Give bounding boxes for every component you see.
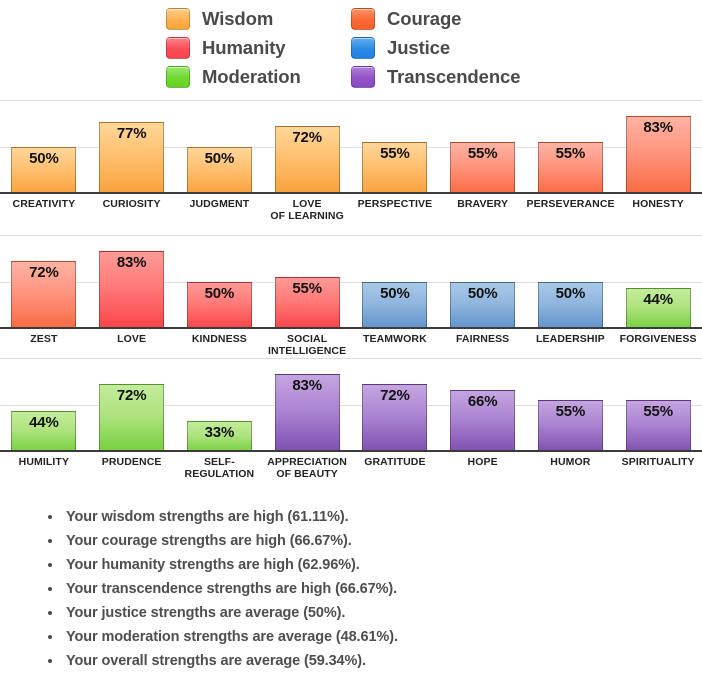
bar-social-intelligence[interactable]: 55% xyxy=(275,277,340,329)
x-axis-label: HUMOR xyxy=(527,452,615,492)
bar-value-label: 72% xyxy=(117,388,146,403)
bar-slot: 44% xyxy=(0,358,88,452)
bar-series-row-3: 44%72%33%83%72%66%55%55% xyxy=(0,358,702,452)
bar-prudence[interactable]: 72% xyxy=(99,384,164,452)
legend-label: Humanity xyxy=(202,37,286,59)
x-axis-label-line: BRAVERY xyxy=(439,198,527,210)
bar-slot: 55% xyxy=(351,100,439,194)
bar-value-label: 50% xyxy=(205,151,234,166)
bar-value-label: 50% xyxy=(29,151,58,166)
x-axis-label-line: FAIRNESS xyxy=(439,333,527,345)
legend-swatch-transcendence-icon xyxy=(351,66,375,88)
bar-curiosity[interactable]: 77% xyxy=(99,122,164,194)
bar-value-label: 55% xyxy=(292,281,321,296)
x-axis-label: GRATITUDE xyxy=(351,452,439,492)
bar-value-label: 83% xyxy=(292,378,321,393)
bar-slot: 55% xyxy=(527,358,615,452)
x-axis-label-line: SOCIAL xyxy=(263,333,351,345)
bar-slot: 83% xyxy=(614,100,702,194)
bar-leadership[interactable]: 50% xyxy=(538,282,603,329)
legend-item-transcendence: Transcendence xyxy=(351,62,536,91)
x-axis-label: PERSEVERANCE xyxy=(527,194,615,234)
bar-slot: 55% xyxy=(614,358,702,452)
x-axis-label-line: CURIOSITY xyxy=(88,198,176,210)
legend-item-courage: Courage xyxy=(351,4,536,33)
x-axis-label-line: CREATIVITY xyxy=(0,198,88,210)
legend-swatch-courage-icon xyxy=(351,8,375,30)
chart-row-2: 72%83%50%55%50%50%50%44%ZESTLOVEKINDNESS… xyxy=(0,235,702,369)
x-axis-label: SPIRITUALITY xyxy=(614,452,702,492)
x-axis-label-line: HOPE xyxy=(439,456,527,468)
x-axis-label-line: OF LEARNING xyxy=(263,210,351,222)
x-axis-label: HONESTY xyxy=(614,194,702,234)
x-axis-labels-row-3: HUMILITYPRUDENCESELF-REGULATIONAPPRECIAT… xyxy=(0,452,702,492)
x-axis-label-line: KINDNESS xyxy=(176,333,264,345)
x-axis-label: CURIOSITY xyxy=(88,194,176,234)
x-axis-labels-row-1: CREATIVITYCURIOSITYJUDGMENTLOVEOF LEARNI… xyxy=(0,194,702,234)
summary-section: Your wisdom strengths are high (61.11%).… xyxy=(0,505,702,673)
x-axis-label-line: HUMILITY xyxy=(0,456,88,468)
bar-value-label: 50% xyxy=(380,286,409,301)
bar-appreciation-of-beauty[interactable]: 83% xyxy=(275,374,340,452)
bar-value-label: 55% xyxy=(643,404,672,419)
legend-item-moderation: Moderation xyxy=(166,62,351,91)
summary-item: Your justice strengths are average (50%)… xyxy=(48,601,702,625)
bar-slot: 50% xyxy=(351,235,439,329)
bar-value-label: 66% xyxy=(468,394,497,409)
x-axis-label: APPRECIATIONOF BEAUTY xyxy=(263,452,351,492)
bar-fairness[interactable]: 50% xyxy=(450,282,515,329)
bar-creativity[interactable]: 50% xyxy=(11,147,76,194)
bar-value-label: 55% xyxy=(556,146,585,161)
x-axis-label-line: PERSEVERANCE xyxy=(527,198,615,210)
summary-item: Your courage strengths are high (66.67%)… xyxy=(48,529,702,553)
x-axis-label-line: OF BEAUTY xyxy=(263,468,351,480)
plot-area-row-2: 72%83%50%55%50%50%50%44% xyxy=(0,235,702,329)
summary-item: Your moderation strengths are average (4… xyxy=(48,625,702,649)
bar-slot: 55% xyxy=(439,100,527,194)
bar-humility[interactable]: 44% xyxy=(11,411,76,452)
bar-teamwork[interactable]: 50% xyxy=(362,282,427,329)
summary-item: Your humanity strengths are high (62.96%… xyxy=(48,553,702,577)
bar-series-row-1: 50%77%50%72%55%55%55%83% xyxy=(0,100,702,194)
bar-humor[interactable]: 55% xyxy=(538,400,603,452)
x-axis-label: SELF-REGULATION xyxy=(176,452,264,492)
bar-love-of-learning[interactable]: 72% xyxy=(275,126,340,194)
legend-item-humanity: Humanity xyxy=(166,33,351,62)
legend-label: Moderation xyxy=(202,66,301,88)
x-axis-label-line: REGULATION xyxy=(176,468,264,480)
bar-slot: 50% xyxy=(439,235,527,329)
bar-slot: 77% xyxy=(88,100,176,194)
x-axis-label: LOVEOF LEARNING xyxy=(263,194,351,234)
bar-judgment[interactable]: 50% xyxy=(187,147,252,194)
summary-item: Your overall strengths are average (59.3… xyxy=(48,649,702,673)
legend-swatch-wisdom-icon xyxy=(166,8,190,30)
bar-value-label: 72% xyxy=(380,388,409,403)
bar-love[interactable]: 83% xyxy=(99,251,164,329)
legend-swatch-humanity-icon xyxy=(166,37,190,59)
plot-area-row-3: 44%72%33%83%72%66%55%55% xyxy=(0,358,702,452)
bar-slot: 83% xyxy=(263,358,351,452)
bar-value-label: 55% xyxy=(556,404,585,419)
bar-hope[interactable]: 66% xyxy=(450,390,515,452)
x-axis-label: CREATIVITY xyxy=(0,194,88,234)
bar-slot: 50% xyxy=(0,100,88,194)
legend-item-wisdom: Wisdom xyxy=(166,4,351,33)
x-axis-label: HOPE xyxy=(439,452,527,492)
bar-zest[interactable]: 72% xyxy=(11,261,76,329)
legend-label: Wisdom xyxy=(202,8,273,30)
bar-value-label: 50% xyxy=(205,286,234,301)
bar-value-label: 55% xyxy=(380,146,409,161)
bar-slot: 72% xyxy=(351,358,439,452)
bar-perseverance[interactable]: 55% xyxy=(538,142,603,194)
bar-value-label: 44% xyxy=(643,292,672,307)
x-axis-label-line: LOVE xyxy=(88,333,176,345)
x-axis-label-line: FORGIVENESS xyxy=(614,333,702,345)
chart-legend: WisdomCourageHumanityJusticeModerationTr… xyxy=(0,0,702,94)
x-axis-label: PERSPECTIVE xyxy=(351,194,439,234)
summary-item: Your transcendence strengths are high (6… xyxy=(48,577,702,601)
x-axis-label: PRUDENCE xyxy=(88,452,176,492)
bar-value-label: 44% xyxy=(29,415,58,430)
bar-slot: 72% xyxy=(88,358,176,452)
x-axis-label-line: TEAMWORK xyxy=(351,333,439,345)
bar-value-label: 50% xyxy=(468,286,497,301)
legend-label: Transcendence xyxy=(387,66,520,88)
x-axis-label-line: PERSPECTIVE xyxy=(351,198,439,210)
legend-swatch-moderation-icon xyxy=(166,66,190,88)
bar-slot: 50% xyxy=(176,100,264,194)
bar-value-label: 83% xyxy=(643,120,672,135)
x-axis-label-line: GRATITUDE xyxy=(351,456,439,468)
bar-forgiveness[interactable]: 44% xyxy=(626,288,691,329)
legend-swatch-justice-icon xyxy=(351,37,375,59)
chart-row-3: 44%72%33%83%72%66%55%55%HUMILITYPRUDENCE… xyxy=(0,358,702,492)
bar-value-label: 72% xyxy=(292,130,321,145)
bar-slot: 50% xyxy=(176,235,264,329)
x-axis-label-line: ZEST xyxy=(0,333,88,345)
bar-self-regulation[interactable]: 33% xyxy=(187,421,252,452)
bar-value-label: 33% xyxy=(205,425,234,440)
plot-area-row-1: 50%77%50%72%55%55%55%83% xyxy=(0,100,702,194)
bar-slot: 50% xyxy=(527,235,615,329)
legend-item-justice: Justice xyxy=(351,33,536,62)
x-axis-label-line: INTELLIGENCE xyxy=(263,345,351,357)
bar-value-label: 83% xyxy=(117,255,146,270)
bar-slot: 83% xyxy=(88,235,176,329)
x-axis-label-line: SELF- xyxy=(176,456,264,468)
bar-slot: 72% xyxy=(263,100,351,194)
bar-slot: 55% xyxy=(263,235,351,329)
bar-series-row-2: 72%83%50%55%50%50%50%44% xyxy=(0,235,702,329)
bar-honesty[interactable]: 83% xyxy=(626,116,691,194)
bar-slot: 55% xyxy=(527,100,615,194)
legend-label: Courage xyxy=(387,8,461,30)
x-axis-label: BRAVERY xyxy=(439,194,527,234)
x-axis-label-line: JUDGMENT xyxy=(176,198,264,210)
legend-grid: WisdomCourageHumanityJusticeModerationTr… xyxy=(166,4,536,91)
bar-kindness[interactable]: 50% xyxy=(187,282,252,329)
bar-slot: 33% xyxy=(176,358,264,452)
x-axis-label-line: PRUDENCE xyxy=(88,456,176,468)
chart-row-1: 50%77%50%72%55%55%55%83%CREATIVITYCURIOS… xyxy=(0,100,702,234)
bar-bravery[interactable]: 55% xyxy=(450,142,515,194)
x-axis-label-line: LEADERSHIP xyxy=(527,333,615,345)
bar-gratitude[interactable]: 72% xyxy=(362,384,427,452)
strengths-report: WisdomCourageHumanityJusticeModerationTr… xyxy=(0,0,702,682)
x-axis-label-line: SPIRITUALITY xyxy=(614,456,702,468)
bar-value-label: 50% xyxy=(556,286,585,301)
bar-slot: 44% xyxy=(614,235,702,329)
x-axis-label: JUDGMENT xyxy=(176,194,264,234)
summary-list: Your wisdom strengths are high (61.11%).… xyxy=(0,505,702,673)
bar-value-label: 72% xyxy=(29,265,58,280)
x-axis-label-line: HONESTY xyxy=(614,198,702,210)
x-axis-label: HUMILITY xyxy=(0,452,88,492)
x-axis-label-line: APPRECIATION xyxy=(263,456,351,468)
bar-perspective[interactable]: 55% xyxy=(362,142,427,194)
x-axis-label-line: LOVE xyxy=(263,198,351,210)
bar-slot: 66% xyxy=(439,358,527,452)
legend-label: Justice xyxy=(387,37,450,59)
x-axis-label-line: HUMOR xyxy=(527,456,615,468)
summary-item: Your wisdom strengths are high (61.11%). xyxy=(48,505,702,529)
bar-value-label: 55% xyxy=(468,146,497,161)
bar-spirituality[interactable]: 55% xyxy=(626,400,691,452)
bar-slot: 72% xyxy=(0,235,88,329)
bar-value-label: 77% xyxy=(117,126,146,141)
